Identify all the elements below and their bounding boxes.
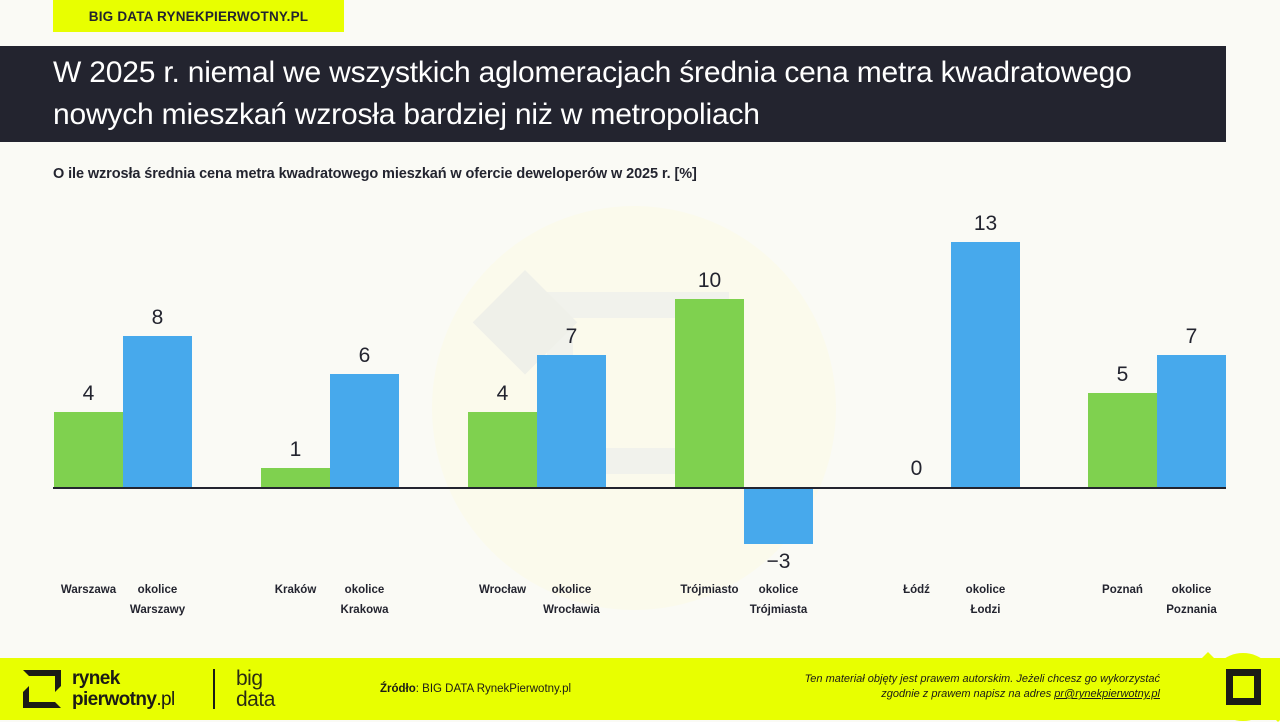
bar-value-label: −3 <box>744 550 813 574</box>
zero-axis-line <box>53 487 1226 489</box>
rynek-pierwotny-logo-icon <box>23 670 61 708</box>
bar-value-label: 1 <box>261 438 330 462</box>
bar-value-label: 8 <box>123 306 192 330</box>
bar <box>1088 393 1157 487</box>
bar <box>675 299 744 488</box>
brand-wordmark-line2: pierwotny <box>72 689 156 710</box>
bar-value-label: 0 <box>882 457 951 481</box>
category-label-line: Krakowa <box>322 600 408 620</box>
copyright-line-2: zgodnie z prawem napisz na adres <box>881 688 1054 700</box>
bar <box>261 468 330 487</box>
copyright-note: Ten materiał objęty jest prawem autorski… <box>700 672 1160 702</box>
category-label-line: Poznania <box>1149 600 1235 620</box>
category-label-line: Warszawy <box>115 600 201 620</box>
bar <box>330 374 399 487</box>
category-label-line: okolice <box>322 580 408 600</box>
bar-chart: 4Warszawa8okoliceWarszawy1Kraków6okolice… <box>0 200 1280 640</box>
category-label: okoliceŁodzi <box>943 580 1029 620</box>
bar <box>1157 355 1226 487</box>
brand-wordmark: rynek pierwotny.pl <box>72 668 175 710</box>
brand-tag: BIG DATA RYNEKPIERWOTNY.PL <box>53 0 344 32</box>
category-label-line: okolice <box>943 580 1029 600</box>
bar-value-label: 7 <box>1157 325 1226 349</box>
bar-value-label: 7 <box>537 325 606 349</box>
source-note: Źródło: BIG DATA RynekPierwotny.pl <box>380 683 571 695</box>
bar <box>468 412 537 487</box>
bar <box>537 355 606 487</box>
bar <box>744 487 813 544</box>
bar <box>951 242 1020 487</box>
category-label-line: okolice <box>529 580 615 600</box>
category-label: okoliceTrójmiasta <box>736 580 822 620</box>
copyright-line-1: Ten materiał objęty jest prawem autorski… <box>700 672 1160 687</box>
bar-value-label: 10 <box>675 269 744 293</box>
category-label-line: okolice <box>115 580 201 600</box>
big-data-wordmark: big data <box>236 668 275 710</box>
category-label: okoliceWrocławia <box>529 580 615 620</box>
category-label-line: Trójmiasta <box>736 600 822 620</box>
source-label: Źródło <box>380 683 416 695</box>
bar-value-label: 4 <box>54 382 123 406</box>
bar-value-label: 6 <box>330 344 399 368</box>
bar <box>123 336 192 487</box>
bar-value-label: 4 <box>468 382 537 406</box>
logo-divider <box>213 669 215 709</box>
brand-tag-label: BIG DATA RYNEKPIERWOTNY.PL <box>89 9 308 24</box>
category-label-line: Wrocławia <box>529 600 615 620</box>
page-title: W 2025 r. niemal we wszystkich aglomerac… <box>0 52 1226 136</box>
big-data-line1: big <box>236 668 275 689</box>
bar-value-label: 5 <box>1088 363 1157 387</box>
source-value: BIG DATA RynekPierwotny.pl <box>422 683 571 695</box>
corner-logo-badge <box>1209 653 1277 721</box>
brand-wordmark-tld: .pl <box>156 689 174 710</box>
contact-email-link[interactable]: pr@rynekpierwotny.pl <box>1054 688 1160 700</box>
brand-wordmark-line1: rynek <box>72 668 175 689</box>
headline-band: W 2025 r. niemal we wszystkich aglomerac… <box>0 46 1226 142</box>
plot-area: 4Warszawa8okoliceWarszawy1Kraków6okolice… <box>0 200 1280 640</box>
category-label-line: okolice <box>736 580 822 600</box>
bar-value-label: 13 <box>951 212 1020 236</box>
category-label: okolicePoznania <box>1149 580 1235 620</box>
category-label-line: Łodzi <box>943 600 1029 620</box>
chart-subtitle: O ile wzrosła średnia cena metra kwadrat… <box>53 166 697 182</box>
category-label: okoliceWarszawy <box>115 580 201 620</box>
category-label: okoliceKrakowa <box>322 580 408 620</box>
bar <box>54 412 123 487</box>
big-data-line2: data <box>236 689 275 710</box>
category-label-line: okolice <box>1149 580 1235 600</box>
